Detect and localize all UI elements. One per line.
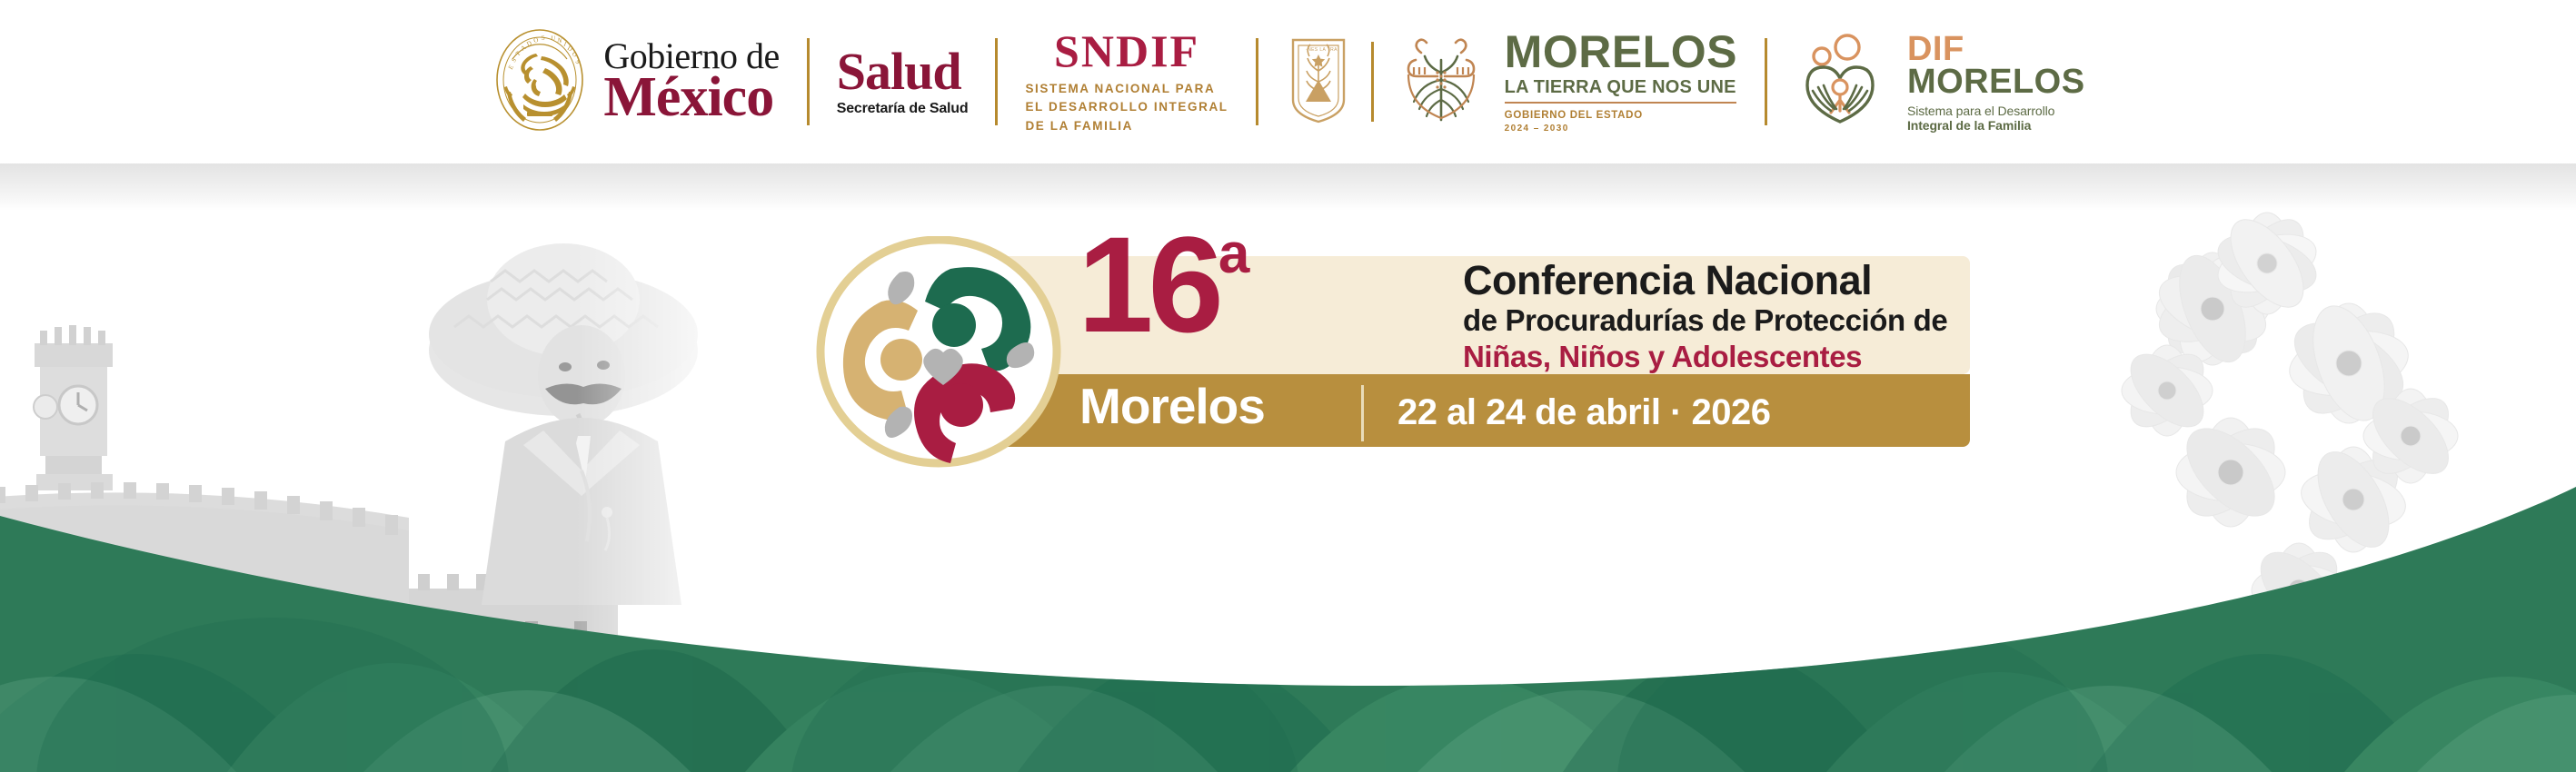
salud-subtitle: Secretaría de Salud xyxy=(837,101,969,117)
green-wave-band xyxy=(0,472,2576,772)
logo-strip: E S T A D O S U N I D O S xyxy=(491,18,2084,145)
edition-ordinal: a xyxy=(1218,223,1249,285)
svg-text:N: N xyxy=(557,36,563,45)
logo-escudo-morelos: ·NES LA TRA· xyxy=(1286,18,1351,145)
logo-divider-4 xyxy=(1371,42,1374,122)
morelos-corn-glyph-icon xyxy=(1394,33,1488,132)
edition-number: 16a xyxy=(1078,216,1249,352)
sndif-subtitle-line-1: SISTEMA NACIONAL PARA xyxy=(1025,80,1228,98)
institutional-logo-header: E S T A D O S U N I D O S xyxy=(0,0,2576,163)
logo-sndif: SNDIF SISTEMA NACIONAL PARA EL DESARROLL… xyxy=(1025,18,1228,145)
logo-dif-morelos: DIF MORELOS Sistema para el Desarrollo I… xyxy=(1795,18,2085,145)
conference-location: Morelos xyxy=(1079,381,1265,431)
morelos-state-coat-of-arms-icon: ·NES LA TRA· xyxy=(1286,35,1351,130)
dif-subtitle-line-2: Integral de la Familia xyxy=(1907,118,2085,133)
conference-title-line-3: Niñas, Niños y Adolescentes xyxy=(1463,341,1972,374)
dif-wordmark-block: DIF MORELOS Sistema para el Desarrollo I… xyxy=(1907,32,2085,133)
morelos-years-label: 2024 – 2030 xyxy=(1505,124,1737,134)
mexican-coat-of-arms-icon: E S T A D O S U N I D O S xyxy=(491,26,589,138)
sndif-wordmark: SNDIF xyxy=(1054,28,1199,74)
logo-gobierno-morelos: MORELOS LA TIERRA QUE NOS UNE GOBIERNO D… xyxy=(1394,18,1737,145)
conference-dates: 22 al 24 de abril · 2026 xyxy=(1397,392,1770,433)
gobierno-line-2: México xyxy=(603,72,779,124)
sndif-subtitle-line-2: EL DESARROLLO INTEGRAL xyxy=(1025,98,1228,116)
dif-subtitle-line-1: Sistema para el Desarrollo xyxy=(1907,104,2085,118)
morelos-gobierno-label: GOBIERNO DEL ESTADO xyxy=(1505,110,1737,121)
conference-pinwheel-emblem-icon xyxy=(816,236,1061,468)
conference-title-line-2: de Procuradurías de Protección de xyxy=(1463,304,1972,338)
salud-wordmark: Salud xyxy=(837,46,961,97)
morelos-wordmark: MORELOS xyxy=(1505,30,1737,74)
dif-heart-family-icon xyxy=(1795,33,1895,132)
logo-divider-1 xyxy=(807,38,810,125)
logo-gobierno-de-mexico: E S T A D O S U N I D O S xyxy=(491,18,779,145)
logo-divider-5 xyxy=(1765,38,1767,125)
svg-text:S: S xyxy=(542,34,546,41)
svg-text:E: E xyxy=(507,63,515,70)
dif-morelos-wordmark: MORELOS xyxy=(1907,64,2085,99)
logo-divider-2 xyxy=(995,38,998,125)
svg-text:·NES LA TRA·: ·NES LA TRA· xyxy=(1306,47,1339,53)
hero-stage: 16a Conferencia Nacional de Procuraduría… xyxy=(0,163,2576,772)
conference-banner-lockup: 16a Conferencia Nacional de Procuraduría… xyxy=(816,236,1797,472)
dif-wordmark: DIF xyxy=(1907,32,2085,66)
sndif-subtitle-line-3: DE LA FAMILIA xyxy=(1025,117,1228,135)
conference-title-block: Conferencia Nacional de Procuradurías de… xyxy=(1463,260,1972,374)
morelos-wordmark-block: MORELOS LA TIERRA QUE NOS UNE GOBIERNO D… xyxy=(1505,30,1737,134)
gobierno-wordmark: Gobierno de México xyxy=(603,40,779,124)
logo-salud: Salud Secretaría de Salud xyxy=(837,18,969,145)
svg-text:U: U xyxy=(551,35,556,42)
location-date-divider xyxy=(1361,385,1364,441)
edition-number-value: 16 xyxy=(1078,208,1218,361)
sndif-subtitle: SISTEMA NACIONAL PARA EL DESARROLLO INTE… xyxy=(1025,80,1228,135)
logo-divider-3 xyxy=(1256,38,1258,125)
morelos-tagline: LA TIERRA QUE NOS UNE xyxy=(1505,77,1736,104)
conference-title-line-1: Conferencia Nacional xyxy=(1463,260,1972,301)
header-drop-shadow xyxy=(0,163,2576,211)
